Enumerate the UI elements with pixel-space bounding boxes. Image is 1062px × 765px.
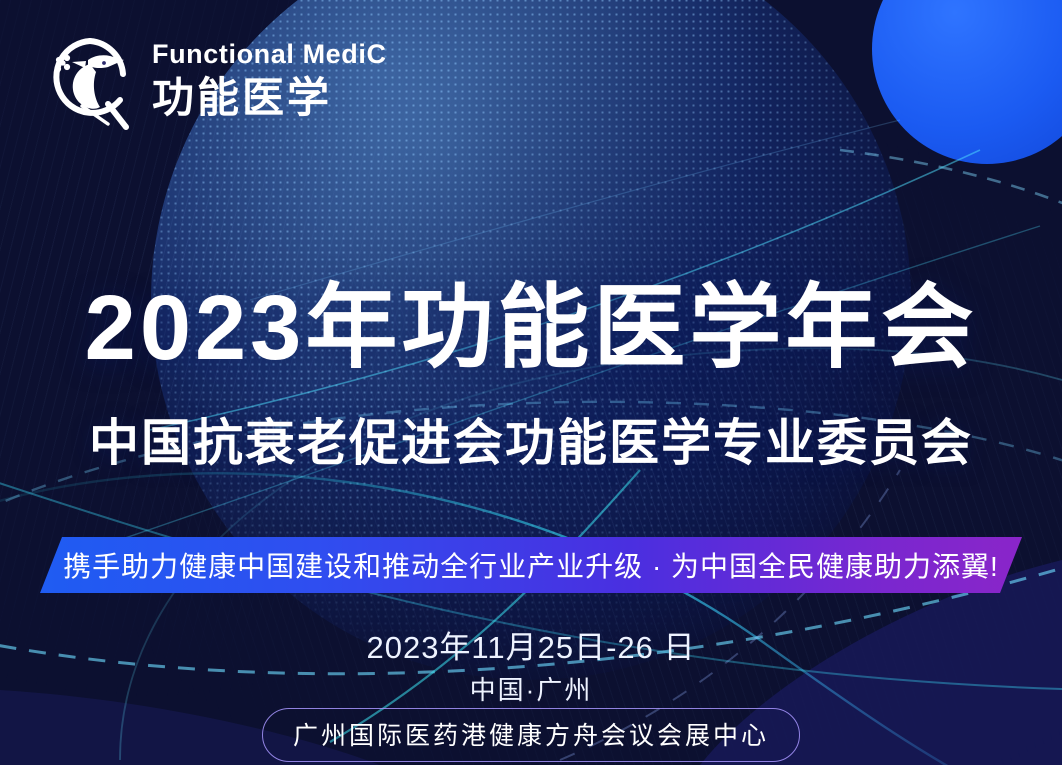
- streak-3: [250, 120, 900, 300]
- conference-poster: Functional MediC 功能医学 2023年功能医学年会 中国抗衰老促…: [0, 0, 1062, 765]
- venue-container: 广州国际医药港健康方舟会议会展中心: [0, 708, 1062, 762]
- event-city: 中国·广州: [0, 670, 1062, 707]
- top-right-circle-decoration: [872, 0, 1062, 164]
- main-title: 2023年功能医学年会: [0, 282, 1062, 374]
- organizer-subtitle: 中国抗衰老促进会功能医学专业委员会: [0, 418, 1062, 468]
- logo-english-text: Functional MediC: [152, 41, 387, 68]
- logo-chinese-text: 功能医学: [152, 74, 387, 121]
- event-venue-badge: 广州国际医药港健康方舟会议会展中心: [262, 708, 800, 762]
- brand-logo: Functional MediC 功能医学: [38, 28, 387, 132]
- bird-in-circle-logo-icon: [38, 28, 142, 132]
- logo-wordmark: Functional MediC 功能医学: [152, 41, 387, 121]
- slogan-text: 携手助力健康中国建设和推动全行业产业升级 · 为中国全民健康助力添翼!: [40, 537, 1022, 593]
- slogan-banner: 携手助力健康中国建设和推动全行业产业升级 · 为中国全民健康助力添翼!: [40, 537, 1022, 593]
- event-date: 2023年11月25日-26 日: [0, 622, 1062, 667]
- dashed-orbit-3: [840, 150, 1062, 206]
